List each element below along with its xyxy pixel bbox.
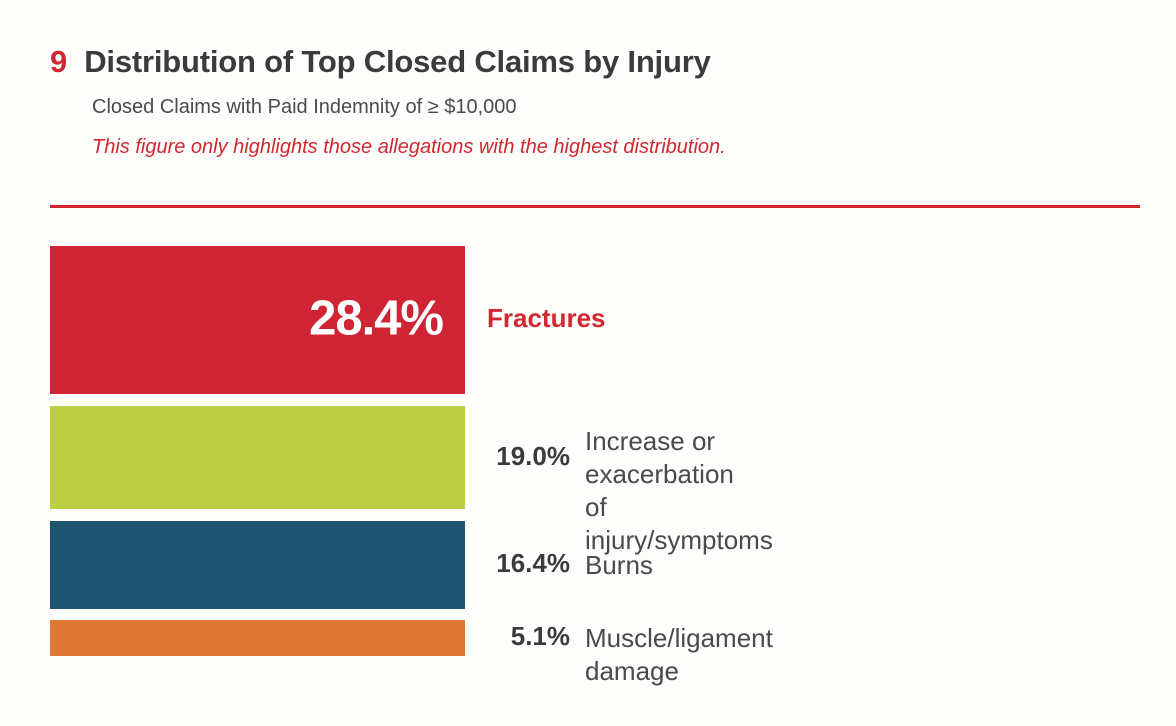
bar-segment [50,406,465,509]
bar-category-label: Fractures [487,303,606,334]
bar-value-label: 5.1% [465,622,570,652]
bar-row: 28.4%Fractures [50,246,750,394]
bar-value-label: 19.0% [465,442,570,472]
bar-row: 19.0%Increase or exacerbation of injury/… [50,406,750,509]
bar-value-label: 16.4% [465,549,570,579]
bar-category-label: Burns [585,549,653,582]
bar-row: 5.1%Muscle/ligament damage [50,620,750,656]
bar-chart: 28.4%Fractures19.0%Increase or exacerbat… [0,0,1176,726]
bar-segment [50,620,465,656]
bar-category-label: Muscle/ligament damage [585,622,773,689]
bar-value-label: 28.4% [309,295,443,344]
bar-segment: 28.4% [50,246,465,394]
bar-row: 16.4%Burns [50,521,750,609]
bar-segment [50,521,465,609]
